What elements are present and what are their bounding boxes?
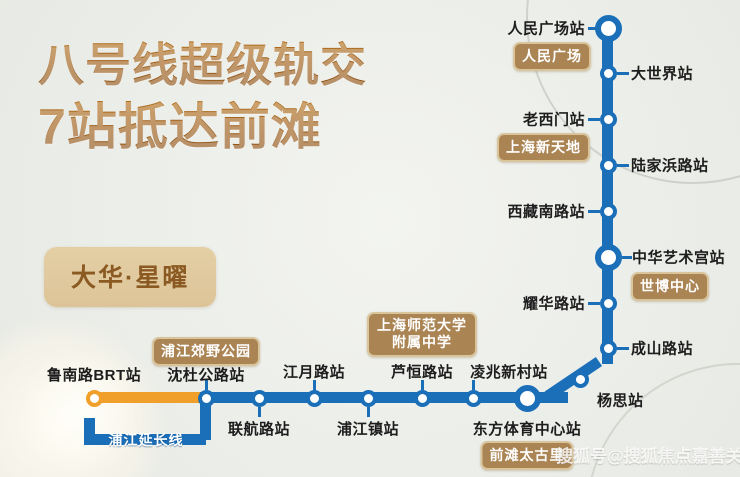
station-tick-renmin-guangchang (588, 27, 600, 30)
track-orange-segment (88, 392, 208, 403)
station-node-lingzhao-xincun[interactable] (465, 390, 482, 407)
station-node-yangsi[interactable] (572, 371, 589, 388)
metro-line-poster: 八号线超级轨交 7站抵达前滩 大华·星曜 浦江延长线 人民广场站 人民广场 大世… (0, 0, 740, 477)
station-node-dongfang-tiyu-zhongxin[interactable] (514, 385, 541, 412)
station-node-yaohua-lu[interactable] (600, 295, 617, 312)
track-branch-vertical-left (84, 418, 95, 440)
station-tick-lianhang-lu (258, 407, 261, 417)
station-tick-lujiabang-lu (617, 164, 629, 167)
station-node-laoximen[interactable] (600, 111, 617, 128)
headline-line-2: 7站抵达前滩 (38, 96, 367, 158)
watermark-text: 搜狐号@搜狐焦点嘉善关注站 (556, 442, 740, 467)
station-tick-dashijie (617, 72, 629, 75)
station-tick-xizang-nanlu (588, 210, 600, 213)
station-node-xizang-nanlu[interactable] (600, 203, 617, 220)
station-node-lunan-lu-brt[interactable] (86, 390, 103, 407)
station-node-pujiang-zhen[interactable] (360, 390, 377, 407)
station-tick-pujiang-zhen (367, 407, 370, 417)
station-label-renmin-guangchang: 人民广场站 (507, 18, 585, 39)
station-label-shendu-gonglu: 沈杜公路站 (167, 364, 245, 385)
station-tick-chengshan-lu (617, 347, 629, 350)
headline-block: 八号线超级轨交 7站抵达前滩 (38, 36, 367, 158)
station-node-jiangyue-lu[interactable] (306, 390, 323, 407)
station-label-laoximen: 老西门站 (523, 109, 585, 130)
station-node-shendu-gonglu[interactable] (198, 390, 215, 407)
station-tag-laoximen: 上海新天地 (497, 133, 590, 162)
station-node-lianhang-lu[interactable] (251, 390, 268, 407)
station-node-luheng-lu[interactable] (414, 390, 431, 407)
station-tag-luheng-lu: 上海师范大学 附属中学 (367, 312, 477, 357)
station-label-lingzhao-xincun: 凌兆新村站 (470, 361, 548, 382)
station-tag-shendu-gonglu: 浦江郊野公园 (152, 337, 260, 366)
station-label-lunan-lu-brt: 鲁南路BRT站 (47, 364, 141, 385)
station-label-jiangyue-lu: 江月路站 (283, 361, 345, 382)
station-node-zhonghua-yishugong[interactable] (595, 244, 622, 271)
station-label-xizang-nanlu: 西藏南路站 (507, 201, 585, 222)
branch-line-label: 浦江延长线 (109, 430, 184, 450)
station-tick-laoximen (588, 118, 600, 121)
station-node-dashijie[interactable] (600, 65, 617, 82)
station-tick-zhonghua-yishugong (622, 256, 632, 259)
station-node-lujiabang-lu[interactable] (600, 157, 617, 174)
station-label-dongfang-tiyu-zhongxin: 东方体育中心站 (473, 418, 582, 439)
station-tag-renmin-guangchang: 人民广场 (513, 42, 591, 71)
brand-badge: 大华·星曜 (44, 247, 216, 307)
station-label-lujiabang-lu: 陆家浜路站 (631, 155, 709, 176)
station-label-dashijie: 大世界站 (631, 63, 693, 84)
station-label-yaohua-lu: 耀华路站 (523, 293, 585, 314)
headline-line-1: 八号线超级轨交 (38, 36, 367, 94)
station-label-luheng-lu: 芦恒路站 (391, 361, 453, 382)
station-tag-zhonghua-yishugong: 世博中心 (631, 272, 709, 301)
station-label-lianhang-lu: 联航路站 (228, 418, 290, 439)
station-tag-luheng-lu-line2: 附属中学 (377, 334, 467, 351)
station-label-chengshan-lu: 成山路站 (631, 338, 693, 359)
station-tick-yaohua-lu (588, 302, 600, 305)
station-label-yangsi: 杨思站 (597, 390, 644, 411)
station-node-chengshan-lu[interactable] (600, 340, 617, 357)
station-tag-luheng-lu-line1: 上海师范大学 (377, 317, 467, 334)
station-label-pujiang-zhen: 浦江镇站 (337, 418, 399, 439)
station-label-zhonghua-yishugong: 中华艺术宫站 (632, 247, 725, 268)
